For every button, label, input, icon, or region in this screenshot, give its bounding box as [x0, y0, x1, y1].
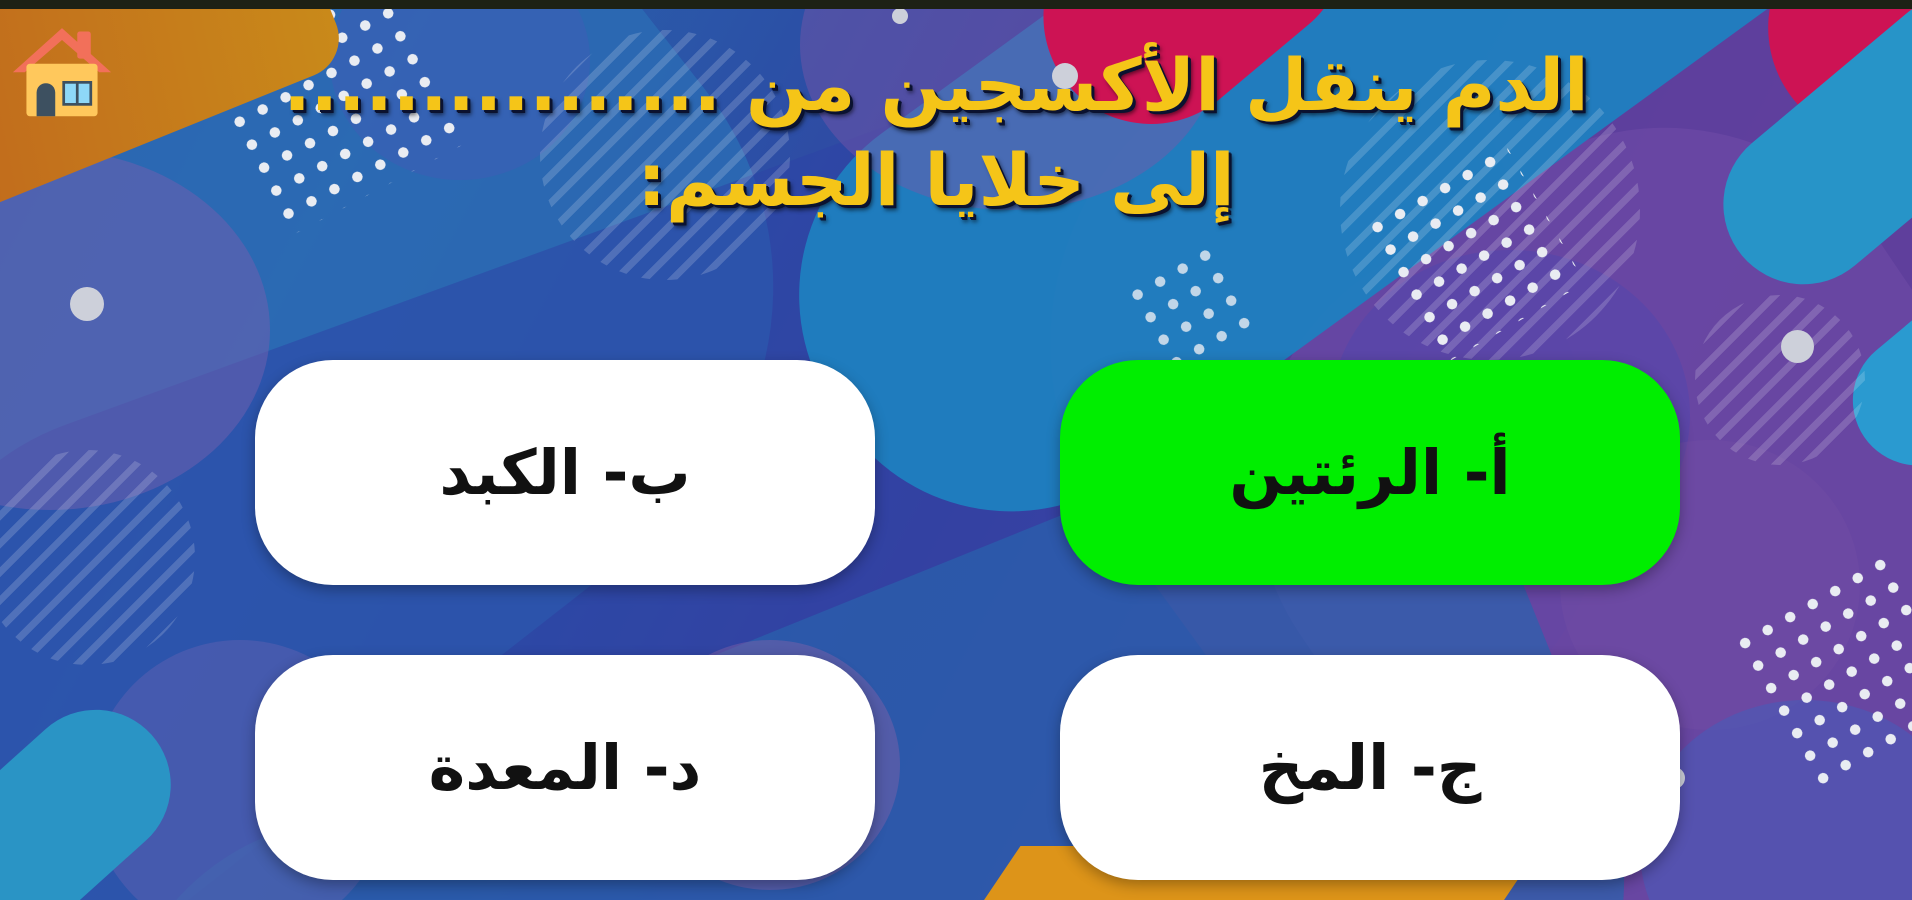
- question-line-2: إلى خلايا الجسم:: [110, 133, 1762, 228]
- quiz-slide: الدم ينقل الأكسجين من ................ إ…: [0, 0, 1912, 900]
- top-edge-bar: [0, 0, 1912, 9]
- home-button[interactable]: [7, 18, 117, 123]
- background-circle-dot-5: [892, 8, 908, 24]
- answer-option-d[interactable]: د- المعدة: [255, 655, 875, 880]
- home-icon: [7, 18, 117, 123]
- answer-options-grid: أ- الرئتين ب- الكبد ج- المخ د- المعدة: [255, 360, 1680, 880]
- answer-option-d-label: د- المعدة: [429, 731, 702, 804]
- answer-option-a[interactable]: أ- الرئتين: [1060, 360, 1680, 585]
- answer-option-b[interactable]: ب- الكبد: [255, 360, 875, 585]
- background-striped-circle-4: [1695, 295, 1865, 465]
- answer-option-a-label: أ- الرئتين: [1229, 436, 1510, 509]
- question-line-1: الدم ينقل الأكسجين من ................: [110, 38, 1762, 133]
- answer-option-b-label: ب- الكبد: [439, 436, 690, 509]
- background-circle-dot-3: [1781, 330, 1814, 363]
- question-text: الدم ينقل الأكسجين من ................ إ…: [110, 38, 1762, 228]
- background-circle-dot-1: [70, 287, 104, 321]
- answer-option-c[interactable]: ج- المخ: [1060, 655, 1680, 880]
- answer-option-c-label: ج- المخ: [1259, 731, 1482, 804]
